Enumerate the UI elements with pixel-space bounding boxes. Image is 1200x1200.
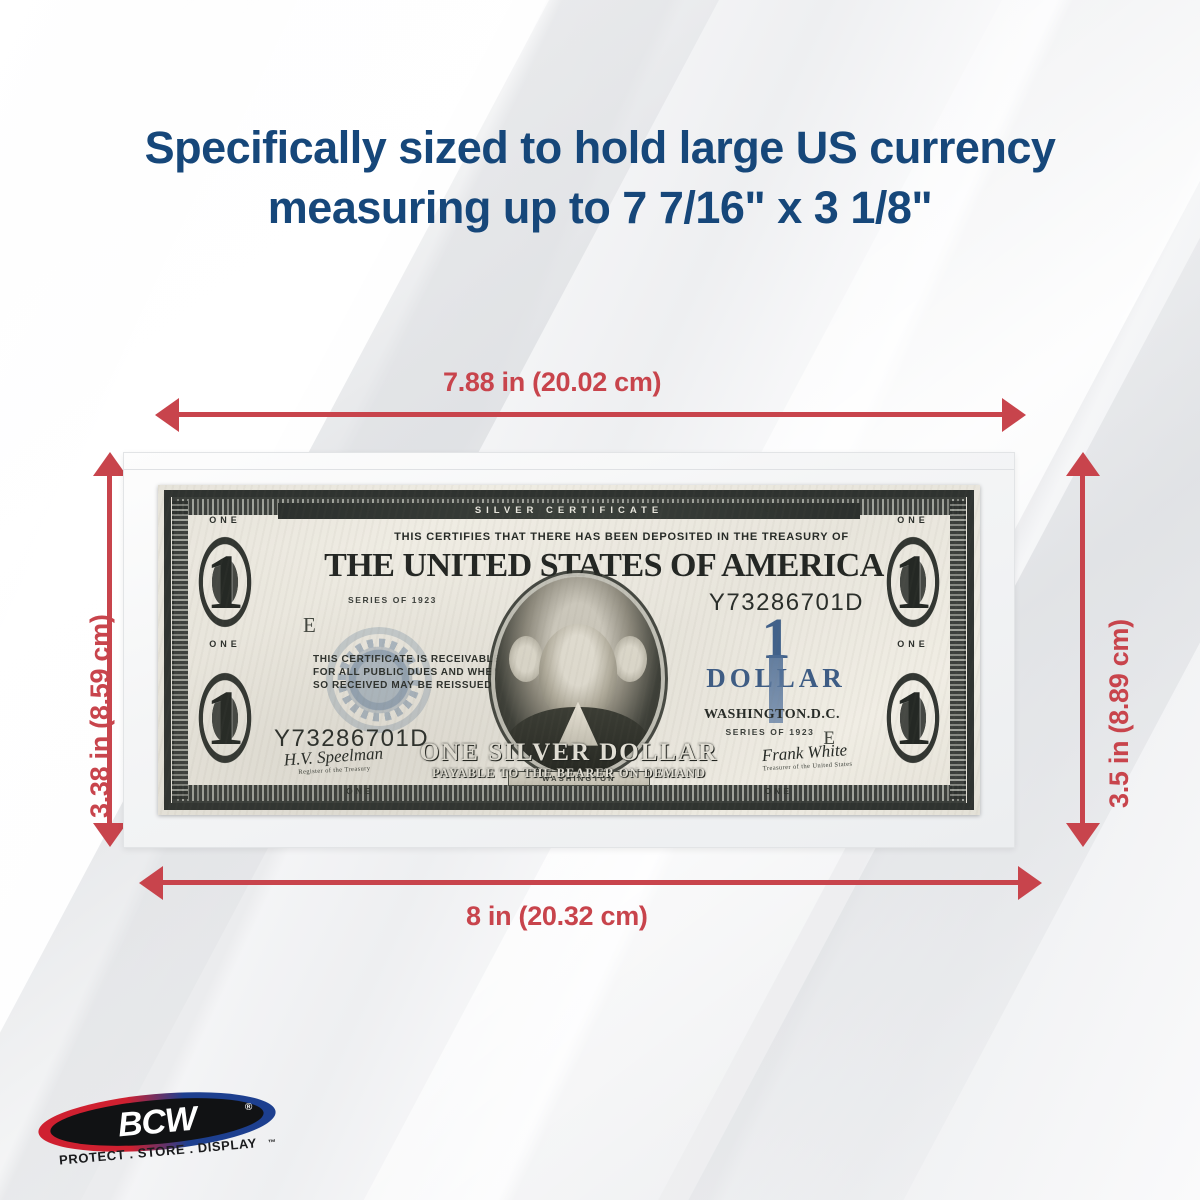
dimension-label-top: 7.88 in (20.02 cm): [443, 367, 661, 398]
dimension-line-right: [1080, 475, 1085, 823]
arrow-head-right-top: [1002, 398, 1026, 432]
note-tiny-one-bottom-right: ONE: [765, 786, 792, 796]
note-receivable-line-1: THIS CERTIFICATE IS RECEIVABLE: [313, 654, 501, 665]
note-corner-numeral-top-left: ONE 1 ONE: [182, 507, 268, 657]
note-receivable-line-2: FOR ALL PUBLIC DUES AND WHEN: [313, 667, 501, 678]
note-corner-word: ONE: [897, 515, 929, 525]
portrait-hair-left: [509, 636, 543, 682]
note-country-name: THE UNITED STATES OF AMERICA: [288, 547, 920, 585]
note-receivable-text: THIS CERTIFICATE IS RECEIVABLE FOR ALL P…: [313, 653, 501, 692]
note-certifies-text: THIS CERTIFIES THAT THERE HAS BEEN DEPOS…: [303, 531, 940, 543]
note-payable-text: PAYABLE TO THE BEARER ON DEMAND: [158, 766, 980, 781]
note-denomination-block: 1 DOLLAR: [676, 615, 876, 693]
note-corner-word: ONE: [209, 515, 241, 525]
arrow-head-up-left: [93, 452, 127, 476]
dimension-line-top: [178, 412, 1002, 417]
arrow-head-down-left: [93, 823, 127, 847]
note-tiny-one-right: ONE: [765, 504, 792, 514]
note-bottom-legend: ONE SILVER DOLLAR PAYABLE TO THE BEARER …: [158, 739, 980, 781]
note-series-left: SERIES OF 1923: [348, 595, 437, 605]
note-city: WASHINGTON.D.C.: [682, 707, 862, 723]
headline-line-2: measuring up to 7 7/16" x 3 1/8": [0, 178, 1200, 238]
arrow-head-up-right: [1066, 452, 1100, 476]
bcw-logo-wordmark: BCW: [117, 1102, 198, 1143]
arrow-head-down-right: [1066, 823, 1100, 847]
dimension-line-bottom: [162, 880, 1018, 885]
note-lace-bottom: [174, 785, 964, 801]
headline-line-1: Specifically sized to hold large US curr…: [145, 122, 1056, 173]
currency-sleeve: SILVER CERTIFICATE ONE ONE ONE ONE ONE 1…: [123, 452, 1015, 848]
note-plate-letter-left: E: [303, 613, 316, 638]
trademark-icon: ™: [268, 1138, 277, 1148]
banknote-1923-silver-certificate: SILVER CERTIFICATE ONE ONE ONE ONE ONE 1…: [158, 485, 980, 815]
arrow-head-left-top: [155, 398, 179, 432]
sleeve-seal-line: [124, 469, 1014, 470]
note-denomination-words: ONE SILVER DOLLAR: [158, 739, 980, 766]
dimension-label-bottom: 8 in (20.32 cm): [466, 901, 648, 932]
arrow-head-right-bottom: [1018, 866, 1042, 900]
note-corner-digit: 1: [206, 543, 245, 621]
note-tiny-one-left: ONE: [346, 504, 373, 514]
registered-trademark-icon: ®: [244, 1102, 252, 1114]
page-title: Specifically sized to hold large US curr…: [0, 118, 1200, 238]
note-tiny-one-bottom-left: ONE: [346, 786, 373, 796]
infographic-canvas: Specifically sized to hold large US curr…: [0, 0, 1200, 1200]
dimension-label-right: 3.5 in (8.89 cm): [1104, 619, 1135, 808]
bcw-logo: BCW ® PROTECT . STORE . DISPLAY ™: [36, 1090, 278, 1172]
portrait-hair-right: [613, 636, 647, 682]
note-receivable-line-3: SO RECEIVED MAY BE REISSUED: [313, 680, 492, 691]
dimension-label-left: 3.38 in (8.59 cm): [85, 614, 116, 818]
note-series-right: SERIES OF 1923: [690, 727, 850, 737]
arrow-head-left-bottom: [139, 866, 163, 900]
